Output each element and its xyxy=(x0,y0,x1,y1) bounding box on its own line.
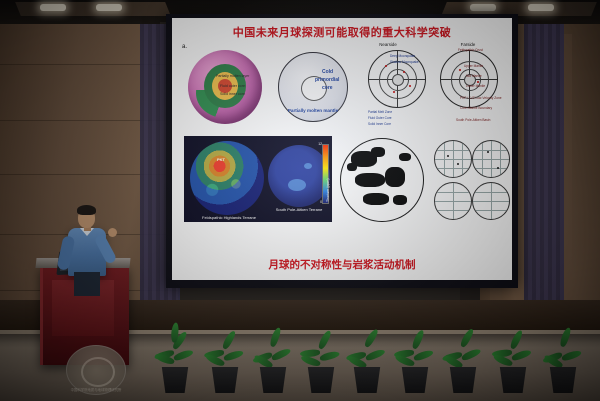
emblem-text: 中国科学院地质与地球物理研究所 xyxy=(67,387,125,392)
farside-annotation-2: Mid Mantle xyxy=(466,74,482,78)
cold-label-line3: core xyxy=(322,86,333,92)
grid-globe-lower-right xyxy=(472,182,510,220)
projected-slide: 中国未来月球探测可能取得的重大科学突破 a. Partially molten … xyxy=(172,18,512,280)
speaker-hand xyxy=(108,228,117,237)
schematic-annotation-2: Partial Melt Zone xyxy=(368,110,392,114)
farside-caption: Farside xyxy=(448,42,488,47)
thorium-inset-caption: South Pole-Aitken Terrane xyxy=(268,208,330,213)
colorbar-title: Thorium (ppm) xyxy=(326,178,330,202)
speckle-globe xyxy=(340,138,424,222)
grid-globe-left xyxy=(434,140,472,178)
colorbar-max-label: 12 xyxy=(318,142,322,146)
panel-label-a: a. xyxy=(182,44,187,50)
schematic-annotation-4: Solid Inner Core xyxy=(368,122,391,126)
farside-annotation-6: South Pole-Aitken Basin xyxy=(456,118,490,122)
grid-globe-lower-left xyxy=(434,182,472,220)
cutaway-label-partial-melt: Partially molten layer xyxy=(216,74,249,78)
thorium-globe-nearside xyxy=(190,141,264,215)
auditorium-photo: 中国未来月球探测可能取得的重大科学突破 a. Partially molten … xyxy=(0,0,600,401)
farside-annotation-3: Lower Mantle xyxy=(466,84,485,88)
slide-title: 中国未来月球探测可能取得的重大科学突破 xyxy=(172,24,512,40)
institute-emblem: 中国科学院地质与地球物理研究所 xyxy=(66,345,126,395)
thorium-abundance-map: Feldspathic Highlands Terrane South Pole… xyxy=(184,136,332,222)
nearside-schematic xyxy=(368,50,426,108)
ceiling-light xyxy=(528,4,554,11)
farside-annotation-1: Upper Mantle xyxy=(464,64,483,68)
farside-annotation-0: Feldspathic Crust xyxy=(458,48,483,52)
schematic-annotation-1: Shallow Moonquake xyxy=(390,60,419,64)
cold-label-line1: Cold xyxy=(322,70,333,76)
speaker-lower-body xyxy=(74,272,100,296)
thorium-globe-farside xyxy=(268,145,330,207)
thorium-left-caption: Feldspathic Highlands Terrane xyxy=(192,216,266,221)
nearside-caption: Nearside xyxy=(368,42,408,47)
colorbar-min-label: 0 xyxy=(320,200,322,204)
cutaway-label-outer-core: Fluid outer core xyxy=(220,84,245,88)
ceiling-light xyxy=(470,4,496,11)
grid-globe-right xyxy=(472,140,510,178)
slide-subtitle: 月球的不对称性与岩浆活动机制 xyxy=(172,257,512,272)
farside-annotation-5: Core-Mantle Boundary xyxy=(460,106,492,110)
curtain-right xyxy=(524,24,564,324)
ceiling-light xyxy=(96,4,122,11)
plant-foliage xyxy=(152,315,198,373)
cold-label-line2: primordial xyxy=(315,78,339,84)
farside-annotation-4: PKP / LVZ Low-Velocity Zone xyxy=(460,96,502,100)
partially-molten-mantle-label: Partially molten mantle xyxy=(284,108,342,113)
pkt-label: PKT xyxy=(210,158,232,163)
schematic-annotation-3: Fluid Outer Core xyxy=(368,116,392,120)
cutaway-label-inner-core: Solid inner core xyxy=(220,92,245,96)
schematic-annotation-0: Deep Moonquake xyxy=(390,54,415,58)
ceiling-light xyxy=(40,4,66,11)
ceiling-panel-left xyxy=(15,2,171,16)
speaker-hair xyxy=(77,205,96,215)
